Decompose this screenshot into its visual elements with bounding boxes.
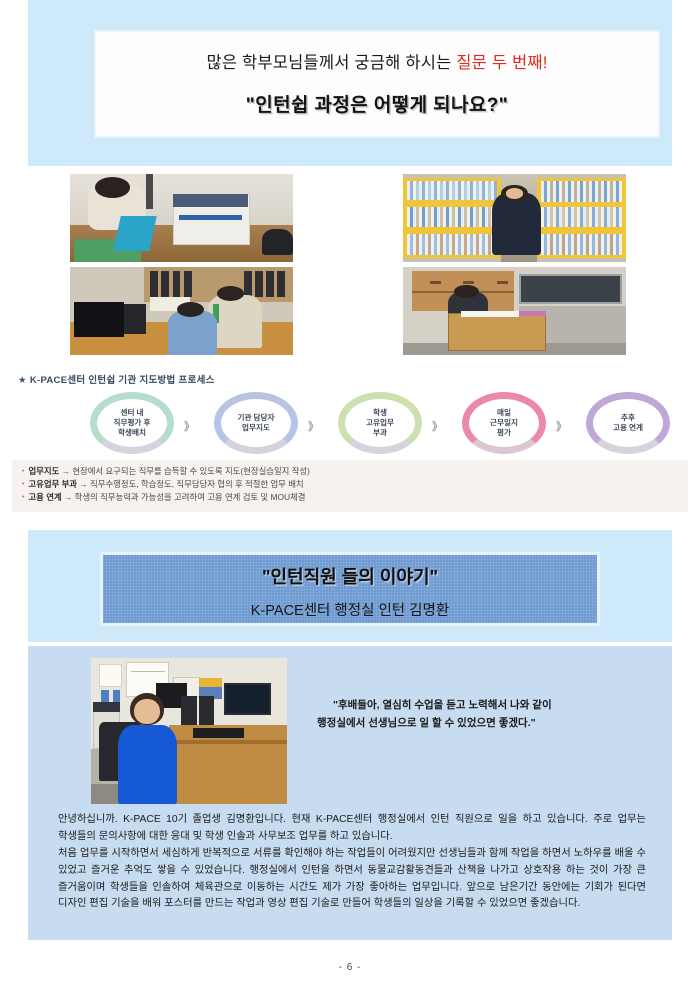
story-banner: "인턴직원 들의 이야기" K-PACE센터 행정실 인턴 김명환 xyxy=(103,555,597,623)
star-icon: ★ xyxy=(18,375,27,386)
interview-paragraph-1: 안녕하십니까. K-PACE 10기 졸업생 김명환입니다. 현재 K-PACE… xyxy=(58,812,646,845)
process-node-2: 기관 담당자 업무지도 xyxy=(214,392,298,454)
header-band: 많은 학부모님들께서 궁금해 하시는 질문 두 번째! "인턴쉽 과정은 어떻게… xyxy=(28,0,672,166)
bullet-dot-icon: • xyxy=(22,468,24,475)
intern-quote: "후배들아, 열심히 수업을 듣고 노력해서 나와 같이 행정실에서 선생님으로… xyxy=(333,696,663,766)
process-node-5: 추후 고용 연계 xyxy=(586,392,670,454)
bullet-1-term: 업무지도 xyxy=(28,466,59,476)
process-arrow-4: 》 xyxy=(556,418,565,434)
bullet-3-term: 고용 연계 xyxy=(28,492,61,502)
header-box: 많은 학부모님들께서 궁금해 하시는 질문 두 번째! "인턴쉽 과정은 어떻게… xyxy=(94,30,660,138)
process-title-text: K-PACE센터 인턴쉽 기관 지도방법 프로세스 xyxy=(30,375,215,386)
header-accent-text: 질문 두 번째! xyxy=(456,54,547,72)
process-node-3-label: 학생 고유업무 부과 xyxy=(366,408,394,439)
process-bullet-3: •고용 연계 → 학생의 직무능력과 가능성을 고려하여 고용 연계 검토 및 … xyxy=(22,491,678,504)
photo-student-cleaning-copier xyxy=(70,174,293,262)
photo-student-studying-desk xyxy=(403,267,626,355)
bullet-3-arrow: → xyxy=(64,492,72,502)
process-arrow-3: 》 xyxy=(432,418,441,434)
intern-quote-line-1: "후배들아, 열심히 수업을 듣고 노력해서 나와 같이 xyxy=(333,696,663,714)
bullet-dot-icon: • xyxy=(22,494,24,501)
process-node-1-label: 센터 내 직무평가 후 학생배치 xyxy=(113,408,150,439)
photo-student-library-shelves xyxy=(403,174,626,262)
process-title: ★K-PACE센터 인턴쉽 기관 지도방법 프로세스 xyxy=(18,372,215,386)
bullet-2-term: 고유업무 부과 xyxy=(28,479,77,489)
photo-staff-desk-computer xyxy=(70,267,293,355)
process-node-5-label: 추후 고용 연계 xyxy=(613,413,643,434)
page-number: - 6 - xyxy=(0,962,700,973)
process-arrow-2: 》 xyxy=(308,418,317,434)
bullet-2-text: 직무수행정도, 학습정도, 직무담당자 협의 후 적절한 업무 배치 xyxy=(90,479,304,489)
newsletter-page: 많은 학부모님들께서 궁금해 하시는 질문 두 번째! "인턴쉽 과정은 어떻게… xyxy=(0,0,700,991)
bullet-dot-icon: • xyxy=(22,481,24,488)
process-node-4-label: 매일 근무일지 평가 xyxy=(490,408,518,439)
process-node-4: 매일 근무일지 평가 xyxy=(462,392,546,454)
process-node-3: 학생 고유업무 부과 xyxy=(338,392,422,454)
process-bullets: •업무지도 → 현장에서 요구되는 직무를 습득할 수 있도록 지도(현장실습일… xyxy=(12,460,688,512)
header-question-intro: 많은 학부모님들께서 궁금해 하시는 질문 두 번째! xyxy=(96,49,658,73)
bullet-1-text: 현장에서 요구되는 직무를 습득할 수 있도록 지도(현장실습일지 작성) xyxy=(72,466,310,476)
photo-grid xyxy=(0,166,700,362)
story-banner-frame: "인턴직원 들의 이야기" K-PACE센터 행정실 인턴 김명환 xyxy=(100,552,600,626)
process-arrow-1: 》 xyxy=(184,418,193,434)
story-banner-subtitle: K-PACE센터 행정실 인턴 김명환 xyxy=(103,599,597,620)
bullet-3-text: 학생의 직무능력과 가능성을 고려하여 고용 연계 검토 및 MOU체결 xyxy=(75,492,306,502)
process-section: ★K-PACE센터 인턴쉽 기관 지도방법 프로세스 센터 내 직무평가 후 학… xyxy=(0,372,700,530)
intern-quote-line-2: 행정실에서 선생님으로 일 할 수 있었으면 좋겠다." xyxy=(317,714,663,732)
bullet-2-arrow: → xyxy=(79,479,87,489)
story-banner-band: "인턴직원 들의 이야기" K-PACE센터 행정실 인턴 김명환 xyxy=(28,530,672,642)
header-question-title: "인턴쉽 과정은 어떻게 되나요?" xyxy=(96,90,658,117)
interview-paragraph-2: 처음 업무를 시작하면서 세심하게 반복적으로 서류를 확인해야 하는 작업들이… xyxy=(58,846,646,913)
story-banner-title: "인턴직원 들의 이야기" xyxy=(103,563,597,589)
process-flow: 센터 내 직무평가 후 학생배치 》 기관 담당자 업무지도 》 학생 고유업무… xyxy=(12,388,688,458)
process-bullet-1: •업무지도 → 현장에서 요구되는 직무를 습득할 수 있도록 지도(현장실습일… xyxy=(22,465,678,478)
interview-body: 안녕하십니까. K-PACE 10기 졸업생 김명환입니다. 현재 K-PACE… xyxy=(58,812,646,914)
process-node-1: 센터 내 직무평가 후 학생배치 xyxy=(90,392,174,454)
process-bullet-2: •고유업무 부과 → 직무수행정도, 학습정도, 직무담당자 협의 후 적절한 … xyxy=(22,478,678,491)
photo-intern-portrait xyxy=(91,658,287,804)
interview-panel: "후배들아, 열심히 수업을 듣고 노력해서 나와 같이 행정실에서 선생님으로… xyxy=(28,646,672,940)
header-intro-text: 많은 학부모님들께서 궁금해 하시는 xyxy=(206,54,456,72)
process-node-2-label: 기관 담당자 업무지도 xyxy=(237,413,274,434)
bullet-1-arrow: → xyxy=(62,466,70,476)
